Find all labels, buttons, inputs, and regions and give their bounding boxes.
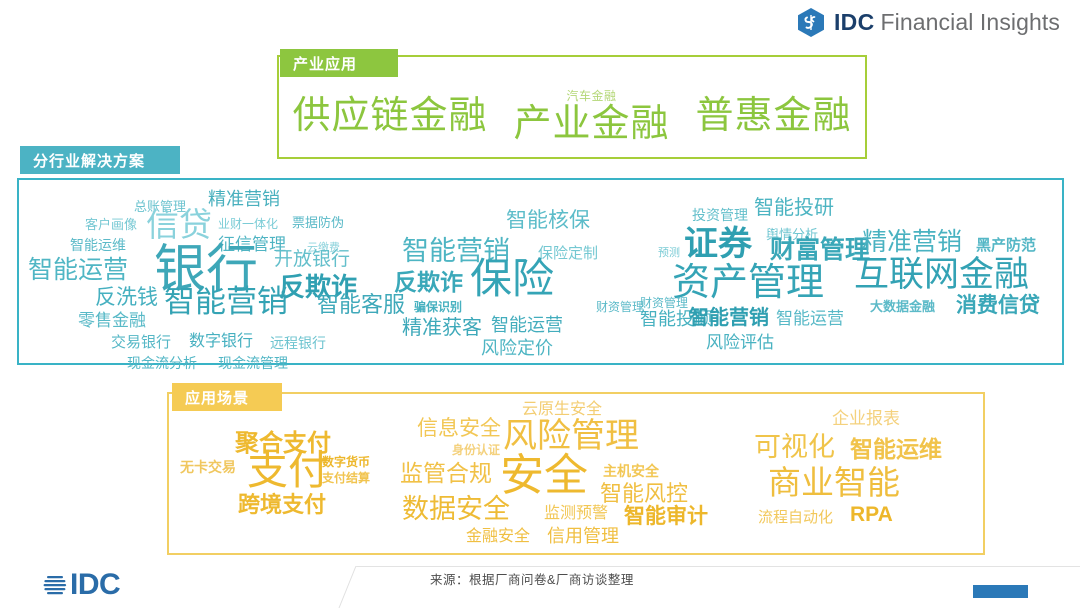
cloud-word: 远程银行: [270, 336, 326, 350]
cloud-word: 投资管理: [692, 208, 748, 222]
cloud-word: RPA: [850, 504, 893, 525]
footer-brand-idc: IDC: [70, 568, 120, 602]
cloud-word: 反欺诈: [394, 271, 463, 294]
cloud-word: 风险定价: [481, 339, 553, 357]
cloud-word: 客户画像: [85, 218, 137, 231]
footer-accent-chip: [973, 585, 1028, 598]
cloud-word: 监测预警: [544, 506, 608, 522]
word-cloud-internet-finance: 精准营销黑产防范互联网金融大数据金融消费信贷: [852, 200, 1062, 365]
cloud-word: 互联网金融: [854, 257, 1029, 292]
cloud-word: 金融安全: [466, 529, 530, 545]
cloud-word: 资产管理: [672, 264, 824, 302]
source-note: 来源：根据厂商问卷&厂商访谈整理: [430, 569, 634, 588]
cloud-word: 智能营销: [164, 286, 288, 317]
cloud-word: 预测: [658, 248, 680, 259]
word-cloud-securities: 投资管理智能投研舆情分析预测证券财富管理资产管理财资管理智能投顾智能营销智能运营…: [640, 192, 860, 372]
cloud-word: 数据安全: [402, 496, 510, 523]
cloud-word: 反洗钱: [95, 287, 158, 308]
cloud-word: 智能运维: [850, 438, 942, 461]
cloud-word: 智能核保: [506, 210, 590, 231]
cloud-word: 证券: [684, 227, 752, 261]
cloud-word: 交易银行: [111, 335, 171, 350]
cloud-word: 云原生安全: [522, 402, 602, 418]
term-auto-finance: 汽车金融: [566, 90, 616, 102]
cloud-word: 智能审计: [624, 506, 708, 527]
footer-idc-logo: IDC: [42, 568, 120, 602]
cloud-word: 智能运维: [70, 238, 126, 252]
cloud-word: 智能营销: [689, 308, 769, 328]
cloud-word: 数字货币: [322, 456, 370, 468]
cloud-word: 信息安全: [417, 418, 501, 439]
word-cloud-business-intelligence: 企业报表可视化智能运维商业智能流程自动化RPA: [740, 400, 970, 550]
word-cloud-payment: 聚合支付无卡交易支付数字货币支付结算跨境支付: [170, 398, 400, 548]
cloud-word: 零售金融: [78, 312, 146, 329]
cloud-word: 大数据金融: [870, 300, 935, 313]
cloud-word: 智能投研: [754, 198, 834, 218]
cloud-word: 智能风控: [600, 483, 688, 505]
cloud-word: 业财一体化: [218, 218, 278, 230]
cloud-word: 智能运营: [28, 258, 128, 283]
cloud-word: 精准营销: [208, 190, 280, 208]
idc-striped-globe-icon: [42, 572, 68, 598]
cloud-word: 骗保识别: [414, 301, 462, 313]
industry-application-terms: 供应链金融 汽车金融 产业金融 普惠金融: [279, 76, 865, 156]
cloud-word: 精准营销: [862, 230, 962, 255]
slide-canvas: IDC Financial Insights 产业应用 供应链金融 汽车金融 产…: [0, 0, 1080, 608]
industry-solutions-tag: 分行业解决方案: [20, 146, 180, 174]
cloud-word: 财资管理: [640, 297, 688, 309]
term-industrial-finance-group: 汽车金融 产业金融: [513, 90, 669, 143]
cloud-word: 财资管理: [596, 301, 644, 313]
word-cloud-insurance: 智能核保智能营销保险定制反欺诈保险骗保识别财资管理智能运营精准获客风险定价: [378, 196, 638, 376]
brand-financial-insights: Financial Insights: [881, 9, 1061, 36]
cloud-word: 身份认证: [452, 444, 500, 456]
cloud-word: 现金流管理: [218, 356, 288, 370]
cloud-word: 现金流分析: [127, 356, 197, 370]
cloud-word: 信用管理: [547, 527, 619, 545]
cloud-word: 智能运营: [491, 316, 563, 334]
term-supply-chain-finance: 供应链金融: [292, 97, 487, 135]
cloud-word: 跨境支付: [238, 494, 326, 516]
cloud-word: 商业智能: [768, 466, 900, 499]
term-industrial-finance: 产业金融: [513, 105, 669, 143]
cloud-word: 风险管理: [503, 419, 639, 453]
word-cloud-banking: 总账管理精准营销客户画像信贷业财一体化票据防伪智能运维征信管理云缴费智能运营银行…: [22, 186, 362, 376]
cloud-word: 信贷: [146, 208, 212, 241]
industry-application-tag: 产业应用: [280, 49, 398, 77]
cloud-word: 主机安全: [603, 464, 659, 478]
cloud-word: 企业报表: [832, 410, 900, 427]
idc-financial-insights-logo: IDC Financial Insights: [798, 8, 1060, 37]
cloud-word: 无卡交易: [180, 460, 236, 474]
cloud-word: 风险评估: [706, 334, 774, 351]
cloud-word: 黑产防范: [976, 238, 1036, 253]
word-cloud-security: 云原生安全信息安全风险管理身份认证监管合规安全主机安全智能风控数据安全监测预警智…: [400, 396, 730, 556]
cloud-word: 支付结算: [322, 472, 370, 484]
brand-idc: IDC: [834, 9, 875, 36]
cloud-word: 保险: [470, 258, 554, 300]
term-inclusive-finance: 普惠金融: [696, 97, 852, 135]
cloud-word: 流程自动化: [758, 510, 833, 525]
cloud-word: 监管合规: [400, 462, 492, 485]
cloud-word: 开放银行: [274, 250, 350, 269]
idc-hexagon-icon: [798, 8, 824, 37]
cloud-word: 消费信贷: [956, 295, 1040, 316]
cloud-word: 精准获客: [402, 318, 482, 338]
cloud-word: 数字银行: [189, 334, 253, 350]
cloud-word: 票据防伪: [292, 216, 344, 229]
cloud-word: 安全: [500, 454, 588, 498]
cloud-word: 智能运营: [776, 310, 844, 327]
cloud-word: 支付: [247, 450, 329, 491]
cloud-word: 可视化: [754, 434, 835, 461]
